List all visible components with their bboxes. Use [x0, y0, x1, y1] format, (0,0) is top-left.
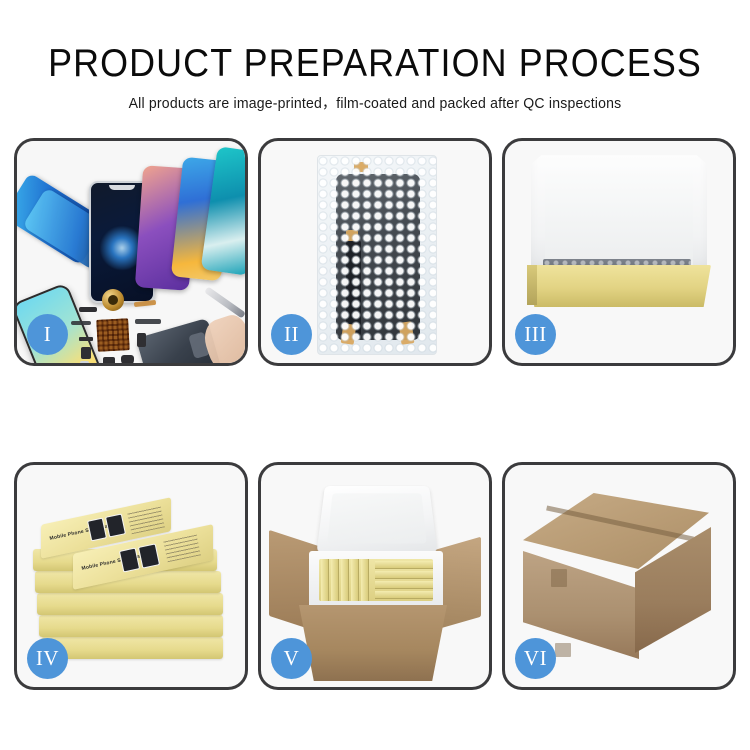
product-preparation-process-page: PRODUCT PREPARATION PROCESS All products…	[0, 0, 750, 750]
yellow-box-side-flap-icon	[527, 265, 537, 305]
yellow-box-upright-3	[341, 559, 349, 601]
speaker-coil-icon	[102, 289, 124, 311]
process-step-panel-5: V	[258, 462, 492, 690]
step-badge-6: VI	[515, 638, 556, 679]
process-step-panel-2: II	[258, 138, 492, 366]
process-step-panel-6: VI	[502, 462, 736, 690]
yellow-box-upright-1	[321, 559, 329, 601]
foam-box-contents-icon	[319, 559, 433, 601]
yellow-box-flat-1	[375, 561, 433, 569]
foam-box-lid-icon	[316, 486, 437, 553]
yellow-box-upright-4	[351, 559, 359, 601]
carton-flap-tab-upper-icon	[551, 569, 567, 587]
bubble-texture-icon	[318, 156, 436, 354]
flex-cable-3-icon	[71, 321, 91, 325]
yellow-box-flat-2	[375, 571, 433, 579]
yellow-box-upright-2	[331, 559, 339, 601]
process-steps-grid: I II	[14, 138, 736, 690]
yellow-box-upright-5	[361, 559, 369, 601]
white-box-lid-inner-icon	[545, 171, 693, 267]
carton-body-icon	[299, 605, 447, 681]
flex-cable-2-icon	[135, 319, 161, 324]
bubble-wrap-bag-icon	[317, 155, 437, 355]
camera-module-icon	[103, 357, 115, 363]
vibration-motor-icon	[121, 355, 134, 363]
chip-part-icon	[79, 307, 97, 312]
stacked-box-5	[41, 637, 223, 659]
process-step-panel-3: III	[502, 138, 736, 366]
copper-grid-board-icon	[96, 318, 130, 352]
connector-part-icon	[79, 337, 93, 341]
carton-flap-tab-lower-icon	[555, 643, 571, 657]
sim-tray-icon	[137, 333, 146, 347]
step-badge-3: III	[515, 314, 556, 355]
step-badge-5: V	[271, 638, 312, 679]
yellow-box-flat-3	[375, 581, 433, 589]
step-badge-2: II	[271, 314, 312, 355]
stacked-box-4	[39, 615, 223, 637]
process-step-panel-1: I	[14, 138, 248, 366]
phone-notch-icon	[109, 185, 135, 190]
step-badge-4: IV	[27, 638, 68, 679]
step-badge-1: I	[27, 314, 68, 355]
page-header: PRODUCT PREPARATION PROCESS All products…	[0, 0, 750, 114]
yellow-box-flat-4	[375, 591, 433, 599]
battery-cell-icon	[80, 361, 89, 363]
stacked-box-3	[37, 593, 223, 615]
page-subtitle: All products are image-printed，film-coat…	[11, 94, 739, 114]
small-module-icon	[81, 347, 91, 359]
yellow-box-tray-icon	[527, 265, 711, 307]
process-step-panel-4: Mobile Phone Spare Parts Mobile Phone Sp…	[14, 462, 248, 690]
page-title: PRODUCT PREPARATION PROCESS	[30, 42, 720, 86]
